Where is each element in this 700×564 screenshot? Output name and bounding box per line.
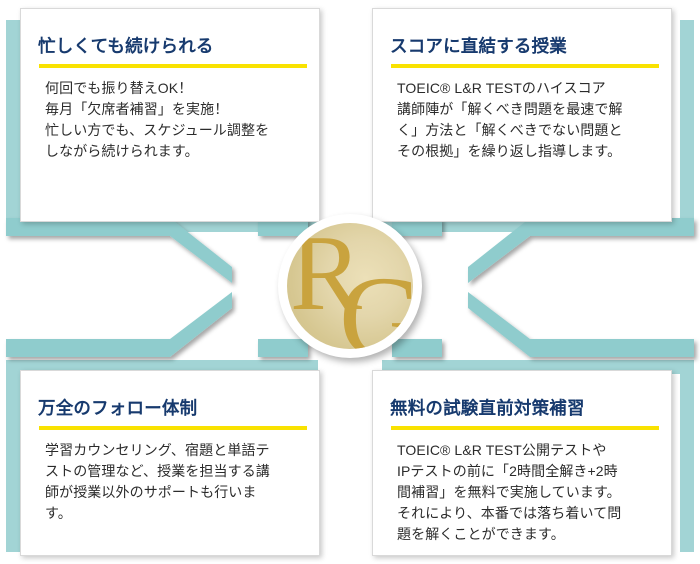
feature-card-body: 何回でも振り替えOK！ 毎月「欠席者補習」を実施！ 忙しい方でも、スケジュール調… xyxy=(45,78,297,162)
feature-card-bottom-right[interactable]: 無料の試験直前対策補習 TOEIC® L&R TEST公開テストや IPテストの… xyxy=(372,370,672,556)
rg-logo: R G xyxy=(278,214,422,358)
accent-band-top-left-vertical xyxy=(6,20,20,232)
feature-card-body: TOEIC® L&R TESTのハイスコア 講師陣が「解くべき問題を最速で解 く… xyxy=(397,78,649,162)
arrow-bottom-right xyxy=(468,292,694,357)
title-underline xyxy=(391,426,659,430)
title-underline xyxy=(391,64,659,68)
arrow-top-left xyxy=(6,218,232,283)
rg-logo-letters: R G xyxy=(287,223,413,349)
title-underline xyxy=(39,426,307,430)
accent-band-bottom-right-vertical xyxy=(680,360,694,552)
feature-card-title: 忙しくても続けられる xyxy=(38,37,319,56)
arrow-bottom-left xyxy=(6,292,232,357)
arrow-stub-right-bottom xyxy=(392,339,442,357)
accent-band-top-right-vertical xyxy=(680,20,694,232)
feature-card-top-left[interactable]: 忙しくても続けられる 何回でも振り替えOK！ 毎月「欠席者補習」を実施！ 忙しい… xyxy=(20,8,320,222)
arrow-top-right xyxy=(468,218,694,283)
feature-card-title: 無料の試験直前対策補習 xyxy=(390,399,671,418)
feature-grid-infographic: R G 忙しくても続けられる 何回でも振り替えOK！ 毎月「欠席者補習」を実施！… xyxy=(0,0,700,564)
title-underline xyxy=(39,64,307,68)
arrow-stub-left-bottom xyxy=(258,339,308,357)
logo-letter-g: G xyxy=(339,252,413,349)
feature-card-top-right[interactable]: スコアに直結する授業 TOEIC® L&R TESTのハイスコア 講師陣が「解く… xyxy=(372,8,672,222)
rg-logo-disc: R G xyxy=(287,223,413,349)
feature-card-title: 万全のフォロー体制 xyxy=(38,399,319,418)
feature-card-body: 学習カウンセリング、宿題と単語テ ストの管理など、授業を担当する講 師が授業以外… xyxy=(45,440,297,524)
feature-card-body: TOEIC® L&R TEST公開テストや IPテストの前に「2時間全解き+2時… xyxy=(397,440,649,545)
feature-card-title: スコアに直結する授業 xyxy=(390,37,671,56)
accent-band-bottom-left-vertical xyxy=(6,360,20,552)
feature-card-bottom-left[interactable]: 万全のフォロー体制 学習カウンセリング、宿題と単語テ ストの管理など、授業を担当… xyxy=(20,370,320,556)
